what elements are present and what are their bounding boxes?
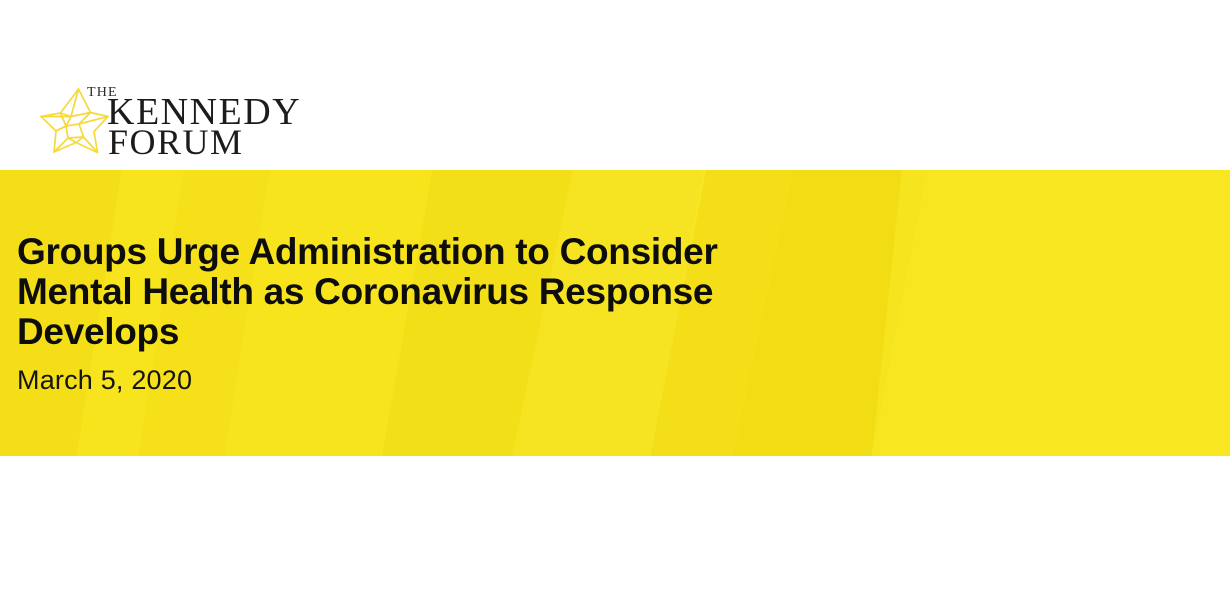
- logo-wordmark: THE KENNEDY FORUM: [87, 84, 337, 158]
- article-body: [0, 456, 1230, 615]
- site-logo[interactable]: THE KENNEDY FORUM: [38, 84, 338, 160]
- logo-forum-text: FORUM: [108, 124, 244, 160]
- page-title: Groups Urge Administration to Consider M…: [17, 232, 777, 352]
- publish-date: March 5, 2020: [17, 364, 1230, 396]
- hero-banner: Groups Urge Administration to Consider M…: [0, 170, 1230, 456]
- site-header: THE KENNEDY FORUM: [0, 0, 1230, 170]
- hero-content: Groups Urge Administration to Consider M…: [0, 170, 1230, 396]
